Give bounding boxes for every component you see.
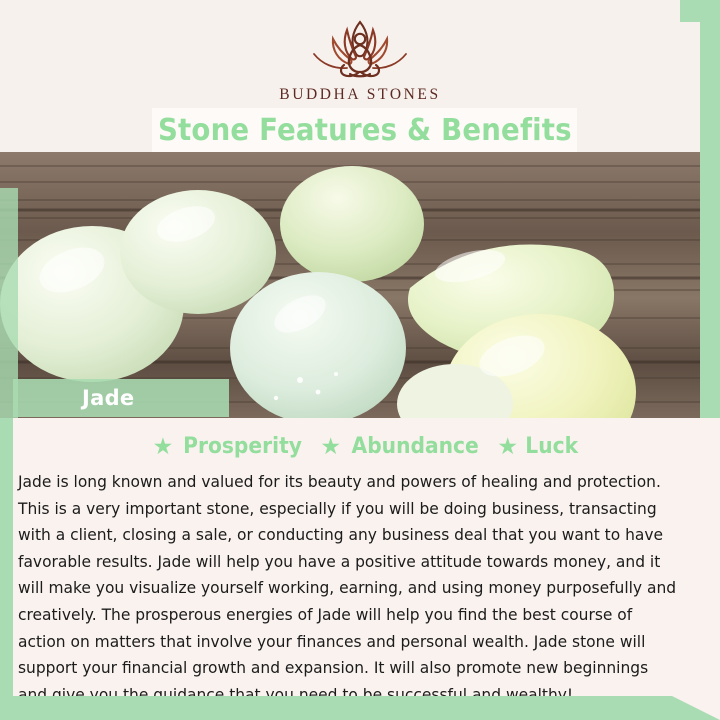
benefits-row: ★ Prosperity ★ Abundance ★ Luck <box>13 429 720 463</box>
benefit-label: Prosperity <box>183 434 302 459</box>
bottom-accent-band <box>0 696 720 720</box>
star-icon: ★ <box>153 435 174 458</box>
star-icon: ★ <box>497 435 518 458</box>
page-title: Stone Features & Benefits <box>158 113 572 148</box>
star-icon: ★ <box>320 435 341 458</box>
stone-name: Jade <box>82 386 134 410</box>
content-card: ★ Prosperity ★ Abundance ★ Luck Jade is … <box>13 418 720 696</box>
lotus-meditation-icon <box>300 12 420 84</box>
content-left-accent-strip <box>0 418 13 696</box>
benefit-item: ★ Abundance <box>320 434 484 459</box>
benefit-label: Luck <box>525 434 578 459</box>
title-banner: Stone Features & Benefits <box>152 108 577 152</box>
brand-name: BUDDHA STONES <box>279 86 440 104</box>
benefit-label: Abundance <box>352 434 479 459</box>
benefit-item: ★ Prosperity <box>153 434 308 459</box>
photo-right-accent-strip <box>700 152 720 418</box>
stone-description: Jade is long known and valued for its be… <box>18 469 680 708</box>
brand-logo: BUDDHA STONES <box>0 12 720 104</box>
stone-label-band: Jade <box>13 379 229 417</box>
benefit-item: ★ Luck <box>497 434 580 459</box>
